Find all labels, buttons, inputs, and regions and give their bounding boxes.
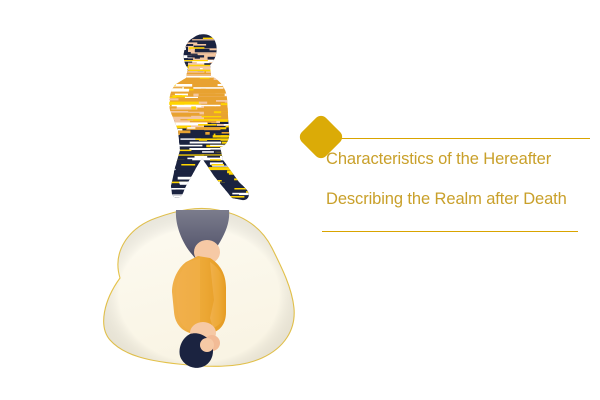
- title-line-1: Characteristics of the Hereafter: [326, 150, 590, 169]
- walking-man-with-reflection-illustration: [0, 0, 320, 400]
- title-top-rule: [322, 138, 590, 139]
- title-block: Characteristics of the Hereafter Describ…: [300, 118, 590, 238]
- title-line-2: Describing the Realm after Death: [326, 190, 590, 209]
- slide-canvas: Characteristics of the Hereafter Describ…: [0, 0, 600, 400]
- title-bottom-rule: [322, 231, 578, 232]
